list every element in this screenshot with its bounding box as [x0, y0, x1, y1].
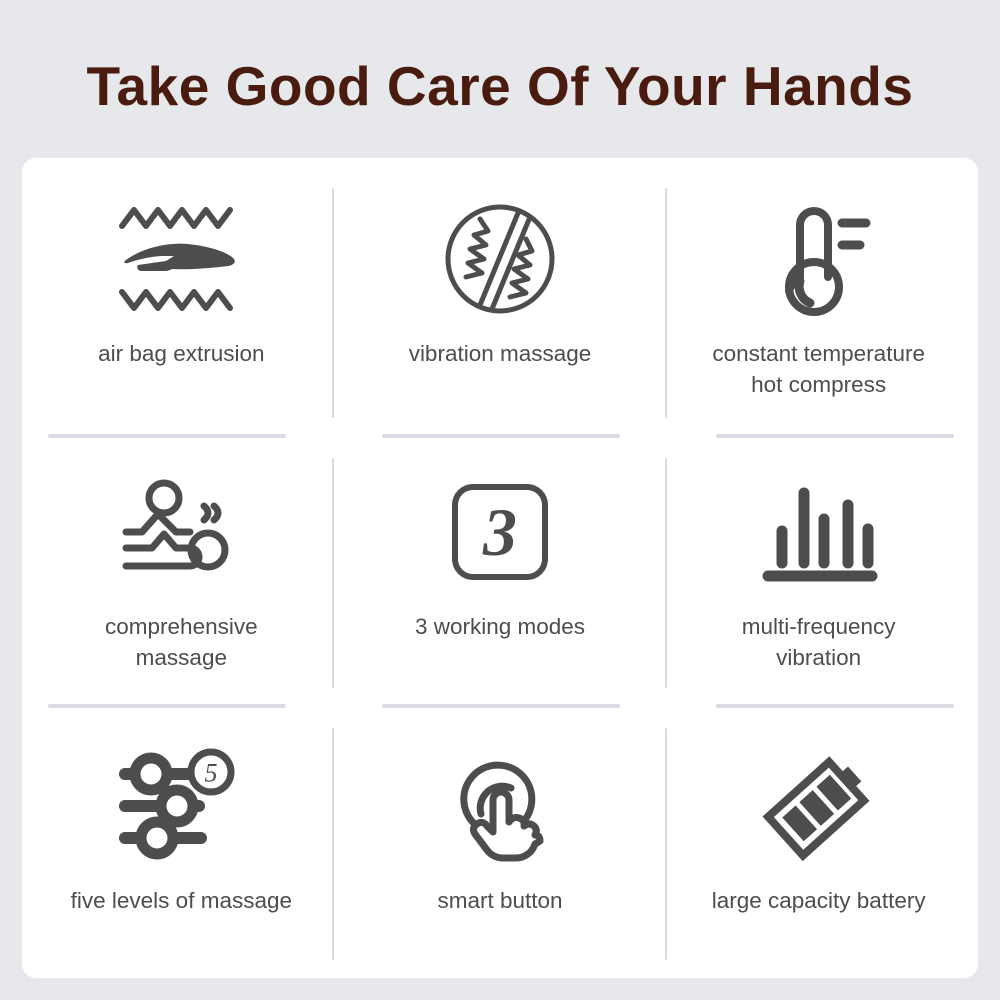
battery-tilted-icon: [760, 741, 878, 871]
feature-label: air bag extrusion: [98, 338, 264, 369]
feature-item-smart-button[interactable]: smart button: [341, 705, 660, 978]
slider-level-badge: 5: [205, 758, 218, 787]
feature-item-multi-frequency-vibration[interactable]: multi-frequency vibration: [659, 431, 978, 704]
feature-item-air-bag-extrusion[interactable]: air bag extrusion: [22, 158, 341, 431]
thermometer-heat-icon: [764, 194, 874, 324]
feature-item-comprehensive-massage[interactable]: comprehensive massage: [22, 431, 341, 704]
feature-label: multi-frequency vibration: [742, 611, 896, 673]
feature-item-five-levels-of-massage[interactable]: 5 five levels of massage: [22, 705, 341, 978]
tap-hand-ripple-icon: [445, 741, 555, 871]
svg-text:3: 3: [482, 494, 517, 570]
feature-item-vibration-massage[interactable]: vibration massage: [341, 158, 660, 431]
feature-grid-page: Take Good Care Of Your Hands: [0, 0, 1000, 1000]
frequency-bars-icon: [760, 467, 878, 597]
feature-label: constant temperature hot compress: [712, 338, 925, 400]
circle-zigzag-band-icon: [442, 194, 558, 324]
hand-between-zigzag-icon: [116, 194, 246, 324]
page-title: Take Good Care Of Your Hands: [0, 58, 1000, 116]
feature-item-large-capacity-battery[interactable]: large capacity battery: [659, 705, 978, 978]
feature-label: five levels of massage: [71, 885, 292, 916]
sliders-five-icon: 5: [115, 741, 247, 871]
feature-label: vibration massage: [409, 338, 592, 369]
feature-label: smart button: [437, 885, 562, 916]
feature-card: air bag extrusion vibration mas: [22, 158, 978, 978]
feature-label: large capacity battery: [712, 885, 926, 916]
feature-item-three-working-modes[interactable]: 3 3 working modes: [341, 431, 660, 704]
massage-table-person-icon: [120, 467, 242, 597]
feature-label: 3 working modes: [415, 611, 585, 642]
feature-grid: air bag extrusion vibration mas: [22, 158, 978, 978]
rounded-square-three-icon: 3: [450, 467, 550, 597]
feature-label: comprehensive massage: [105, 611, 258, 673]
feature-item-constant-temperature[interactable]: constant temperature hot compress: [659, 158, 978, 431]
